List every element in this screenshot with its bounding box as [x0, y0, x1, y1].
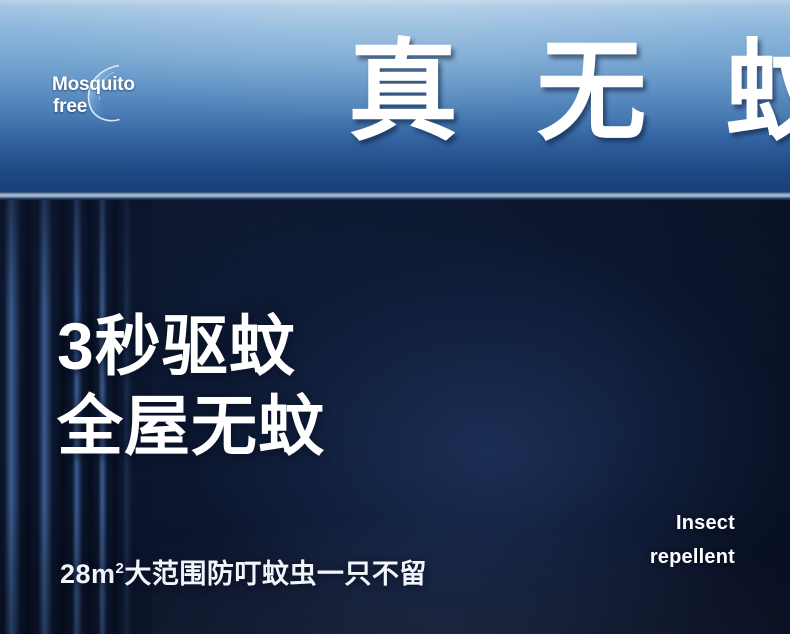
brand-logo-text: Mosquito free [52, 74, 170, 118]
subtitle-text: 大范围防叮蚊虫一只不留 [124, 559, 427, 589]
brand-logo: Mosquito free [52, 62, 170, 132]
promo-poster: Mosquito free 真 无 蚊 Insect repellent [0, 0, 790, 634]
header-title: 真 无 蚊 [348, 18, 768, 168]
side-label: Insect repellent [580, 506, 735, 574]
subtitle-area-value: 28m [60, 559, 116, 589]
side-label-line1: Insect [580, 506, 735, 540]
side-label-line2: repellent [580, 540, 735, 574]
headline-line-2: 全屋无蚊 [57, 386, 325, 466]
brand-logo-line2: free [52, 96, 170, 118]
headline-line-1: 3秒驱蚊 [57, 306, 325, 386]
main-headline: 3秒驱蚊 全屋无蚊 [57, 306, 325, 466]
brand-logo-line1: Mosquito [52, 74, 170, 96]
subtitle: 28m2大范围防叮蚊虫一只不留 [60, 552, 427, 591]
